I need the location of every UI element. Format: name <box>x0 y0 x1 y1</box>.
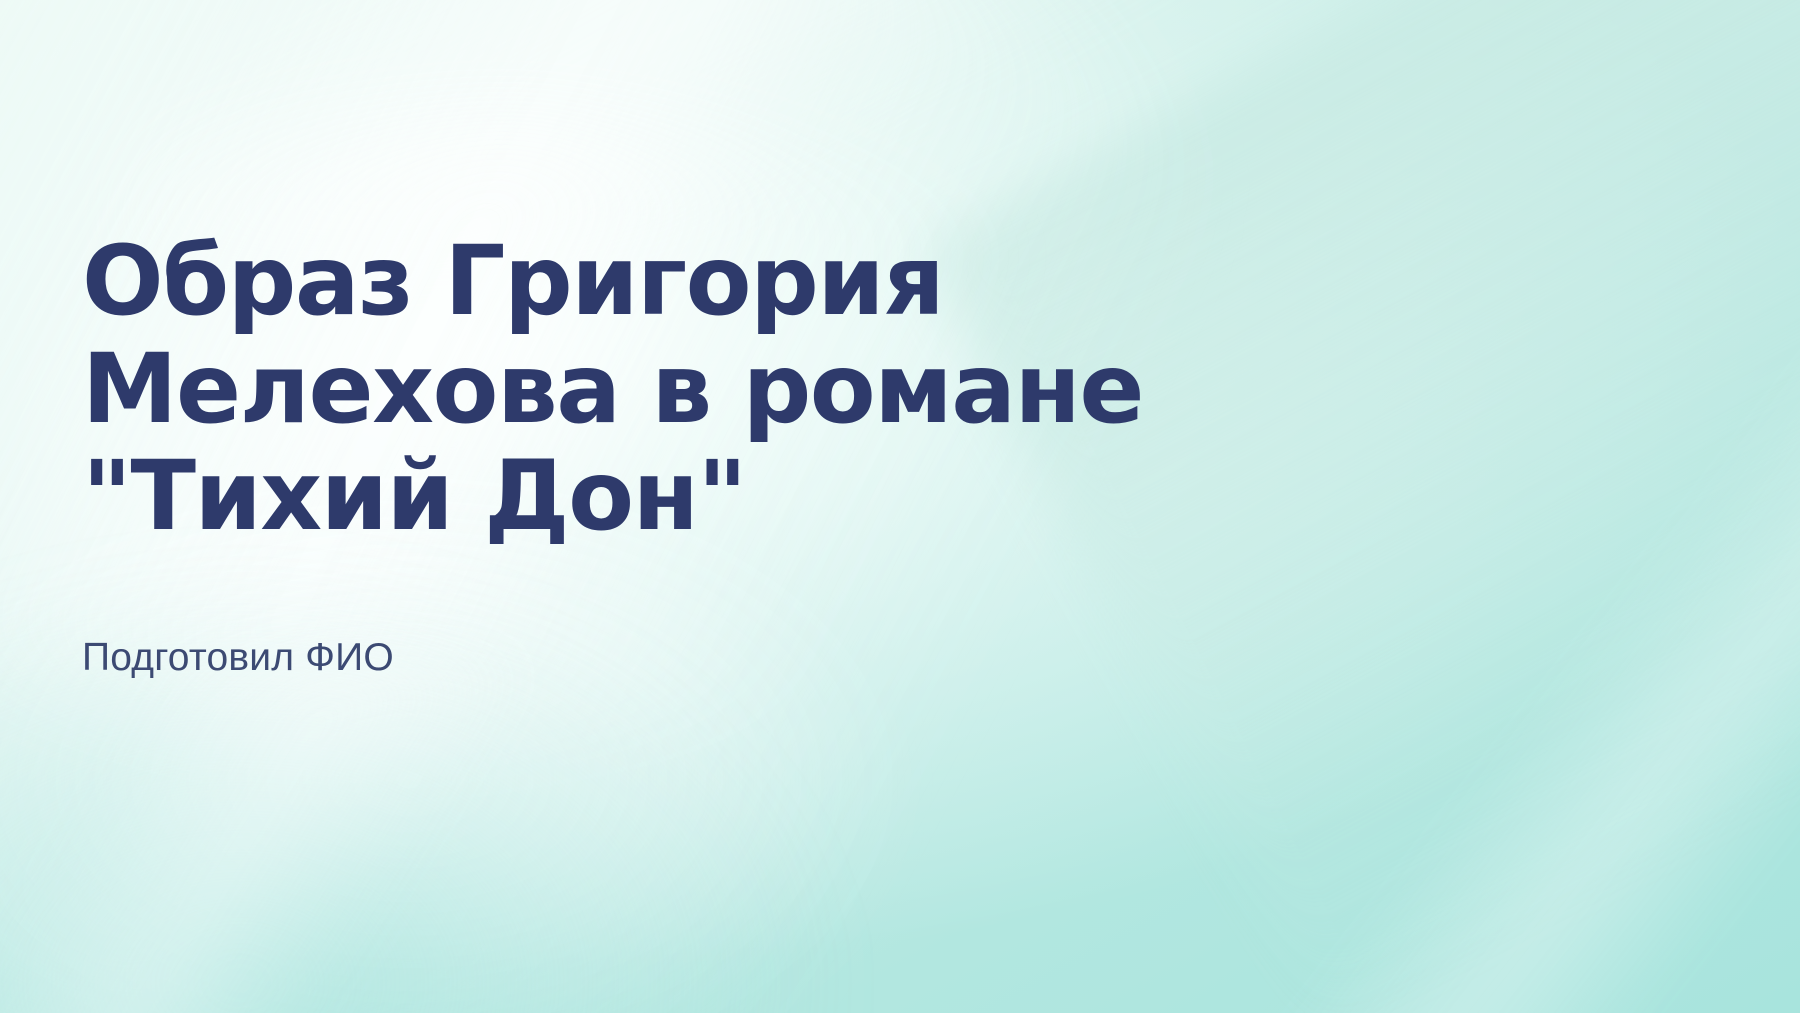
wave-wedge-shape <box>0 653 580 1013</box>
slide-title: Образ Григория Мелехова в романе "Тихий … <box>82 228 1422 551</box>
presentation-slide: Образ Григория Мелехова в романе "Тихий … <box>0 0 1800 1013</box>
slide-subtitle: Подготовил ФИО <box>82 551 1422 684</box>
slide-content: Образ Григория Мелехова в романе "Тихий … <box>82 228 1422 683</box>
wave-top-band-shape <box>120 0 1320 260</box>
